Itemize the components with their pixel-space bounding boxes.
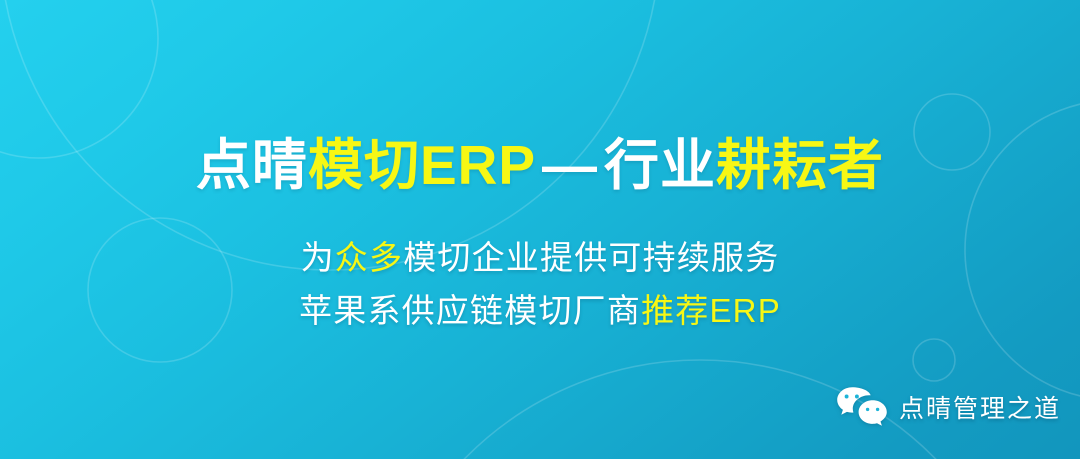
subtitle-1-segment-white-2: 模切企业提供可持续服务	[403, 239, 779, 276]
title-segment-white-1: 点晴	[196, 134, 308, 196]
subtitle-line-1: 为众多模切企业提供可持续服务	[0, 231, 1080, 284]
title-segment-highlight-1: 模切ERP	[308, 134, 536, 196]
subtitle-2-segment-white: 苹果系供应链模切厂商	[299, 292, 641, 329]
title-segment-highlight-2: 耕耘者	[716, 134, 884, 196]
wechat-account-badge[interactable]: 点晴管理之道	[836, 386, 1061, 428]
subtitle-line-2: 苹果系供应链模切厂商推荐ERP	[0, 284, 1080, 337]
subtitle-1-segment-white-1: 为	[301, 239, 335, 276]
title-dash: —	[536, 134, 604, 196]
subtitle-2-segment-highlight: 推荐ERP	[641, 292, 781, 329]
page-title: 点晴模切ERP—行业耕耘者	[196, 137, 884, 195]
wechat-account-name: 点晴管理之道	[899, 389, 1061, 425]
subtitle-1-segment-highlight: 众多	[335, 239, 403, 276]
subtitle-container: 为众多模切企业提供可持续服务 苹果系供应链模切厂商推荐ERP	[0, 231, 1080, 338]
promo-banner: 点晴模切ERP—行业耕耘者 为众多模切企业提供可持续服务 苹果系供应链模切厂商推…	[0, 0, 1080, 459]
wechat-icon	[836, 386, 888, 428]
headline-container: 点晴模切ERP—行业耕耘者	[0, 100, 1080, 231]
title-segment-white-2: 行业	[604, 134, 716, 196]
decor-circle	[913, 339, 955, 381]
